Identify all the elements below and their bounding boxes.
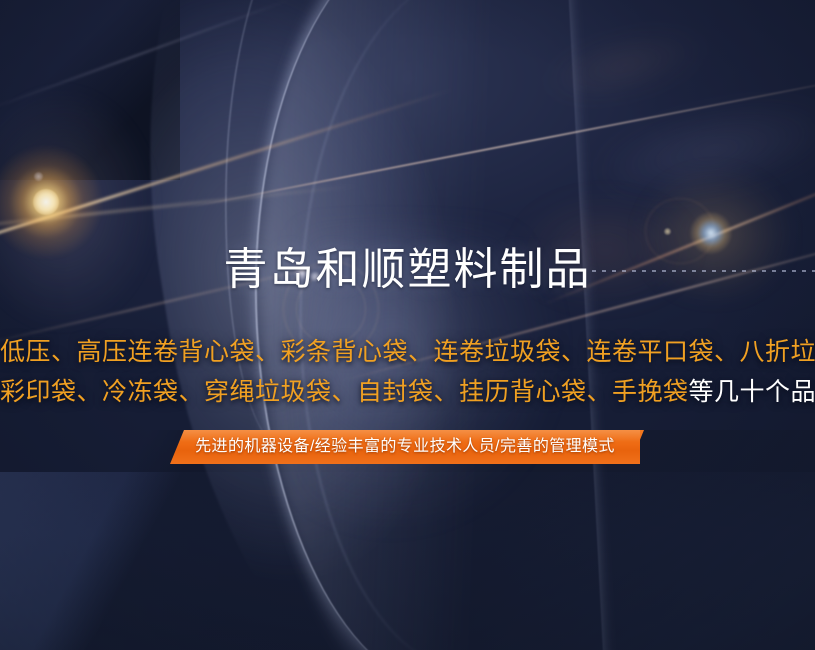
product-list-line-2: 彩印袋、冷冻袋、穿绳垃圾袋、自封袋、挂历背心袋、手挽袋等几十个品种 [0, 380, 815, 405]
banner-content: 青岛和顺塑料制品 低压、高压连卷背心袋、彩条背心袋、连卷垃圾袋、连卷平口袋、八折… [0, 0, 815, 650]
title-row: 青岛和顺塑料制品 [0, 248, 815, 292]
product-list-line-2-tail: 等几十个品种 [689, 378, 815, 406]
product-list-line-1: 低压、高压连卷背心袋、彩条背心袋、连卷垃圾袋、连卷平口袋、八折垃圾袋、 [0, 340, 815, 365]
product-list-line-2-highlight: 彩印袋、冷冻袋、穿绳垃圾袋、自封袋、挂历背心袋、手挽袋 [0, 378, 689, 406]
promo-banner: 青岛和顺塑料制品 低压、高压连卷背心袋、彩条背心袋、连卷垃圾袋、连卷平口袋、八折… [0, 0, 815, 650]
tagline-text: 先进的机器设备/经验丰富的专业技术人员/完善的管理模式 [195, 439, 615, 455]
tagline-banner: 先进的机器设备/经验丰富的专业技术人员/完善的管理模式 [170, 430, 640, 464]
page-title: 青岛和顺塑料制品 [224, 248, 592, 292]
